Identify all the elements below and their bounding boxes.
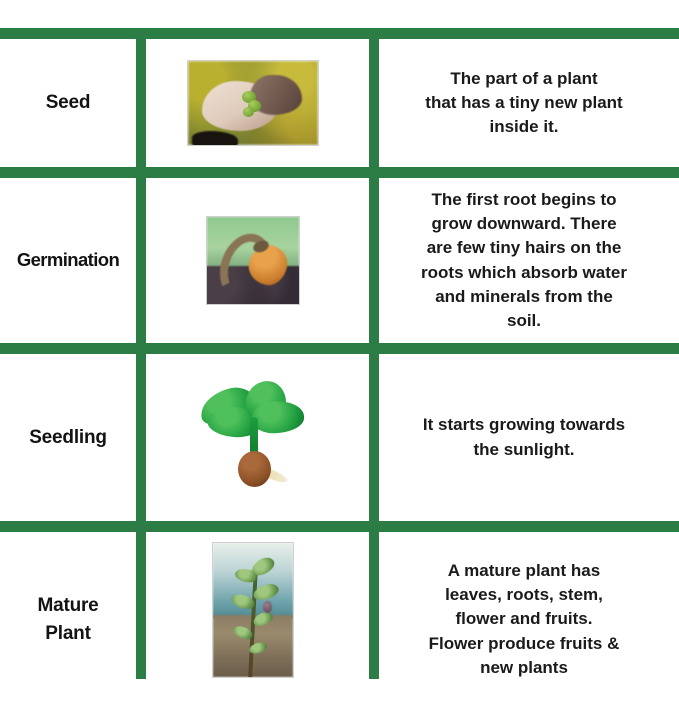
table-row: Seedling It starts growing towards the s… [0, 354, 679, 521]
flower-bud-shape [263, 601, 272, 613]
plant-life-cycle-table: Seed The part of a plant that has a tiny… [0, 0, 679, 679]
row-divider-germination-seedling [0, 343, 679, 354]
stage-label: Mature Plant [37, 592, 98, 647]
mature-plant-photo [212, 542, 294, 678]
table-row: Seed The part of a plant that has a tiny… [0, 39, 679, 167]
image-cell-seed [136, 39, 369, 167]
description-cell-germination: The first root begins to grow downward. … [369, 178, 679, 343]
stage-label: Seed [46, 89, 91, 117]
seed-photo [187, 60, 319, 146]
germination-photo [206, 216, 300, 305]
stage-cell-seed: Seed [0, 39, 136, 167]
description-text: It starts growing towards the sunlight. [423, 413, 625, 461]
row-divider-seedling-mature-plant [0, 521, 679, 532]
stage-cell-germination: Germination [0, 178, 136, 343]
cotyledon-leaf-shape [250, 399, 304, 435]
table-border-top [0, 28, 679, 39]
sleeve-cuff-shape [192, 131, 238, 146]
green-seed-shape [243, 107, 254, 117]
stage-cell-mature-plant: Mature Plant [0, 532, 136, 707]
image-cell-seedling [136, 354, 369, 521]
description-text: The part of a plant that has a tiny new … [425, 67, 622, 139]
description-cell-mature-plant: A mature plant has leaves, roots, stem, … [369, 532, 679, 707]
description-text: The first root begins to grow downward. … [421, 188, 627, 333]
stage-cell-seedling: Seedling [0, 354, 136, 521]
row-divider-seed-germination [0, 167, 679, 178]
seed-coat-shape [238, 451, 271, 487]
description-cell-seed: The part of a plant that has a tiny new … [369, 39, 679, 167]
image-cell-mature-plant [136, 532, 369, 707]
description-text: A mature plant has leaves, roots, stem, … [429, 559, 620, 680]
table-row: Germination The first root begins to gro… [0, 178, 679, 343]
table-row: Mature Plant A mature pla [0, 532, 679, 707]
seedling-illustration [194, 375, 312, 500]
stage-label: Seedling [29, 424, 107, 452]
stage-label: Germination [17, 247, 119, 274]
description-cell-seedling: It starts growing towards the sunlight. [369, 354, 679, 521]
image-cell-germination [136, 178, 369, 343]
